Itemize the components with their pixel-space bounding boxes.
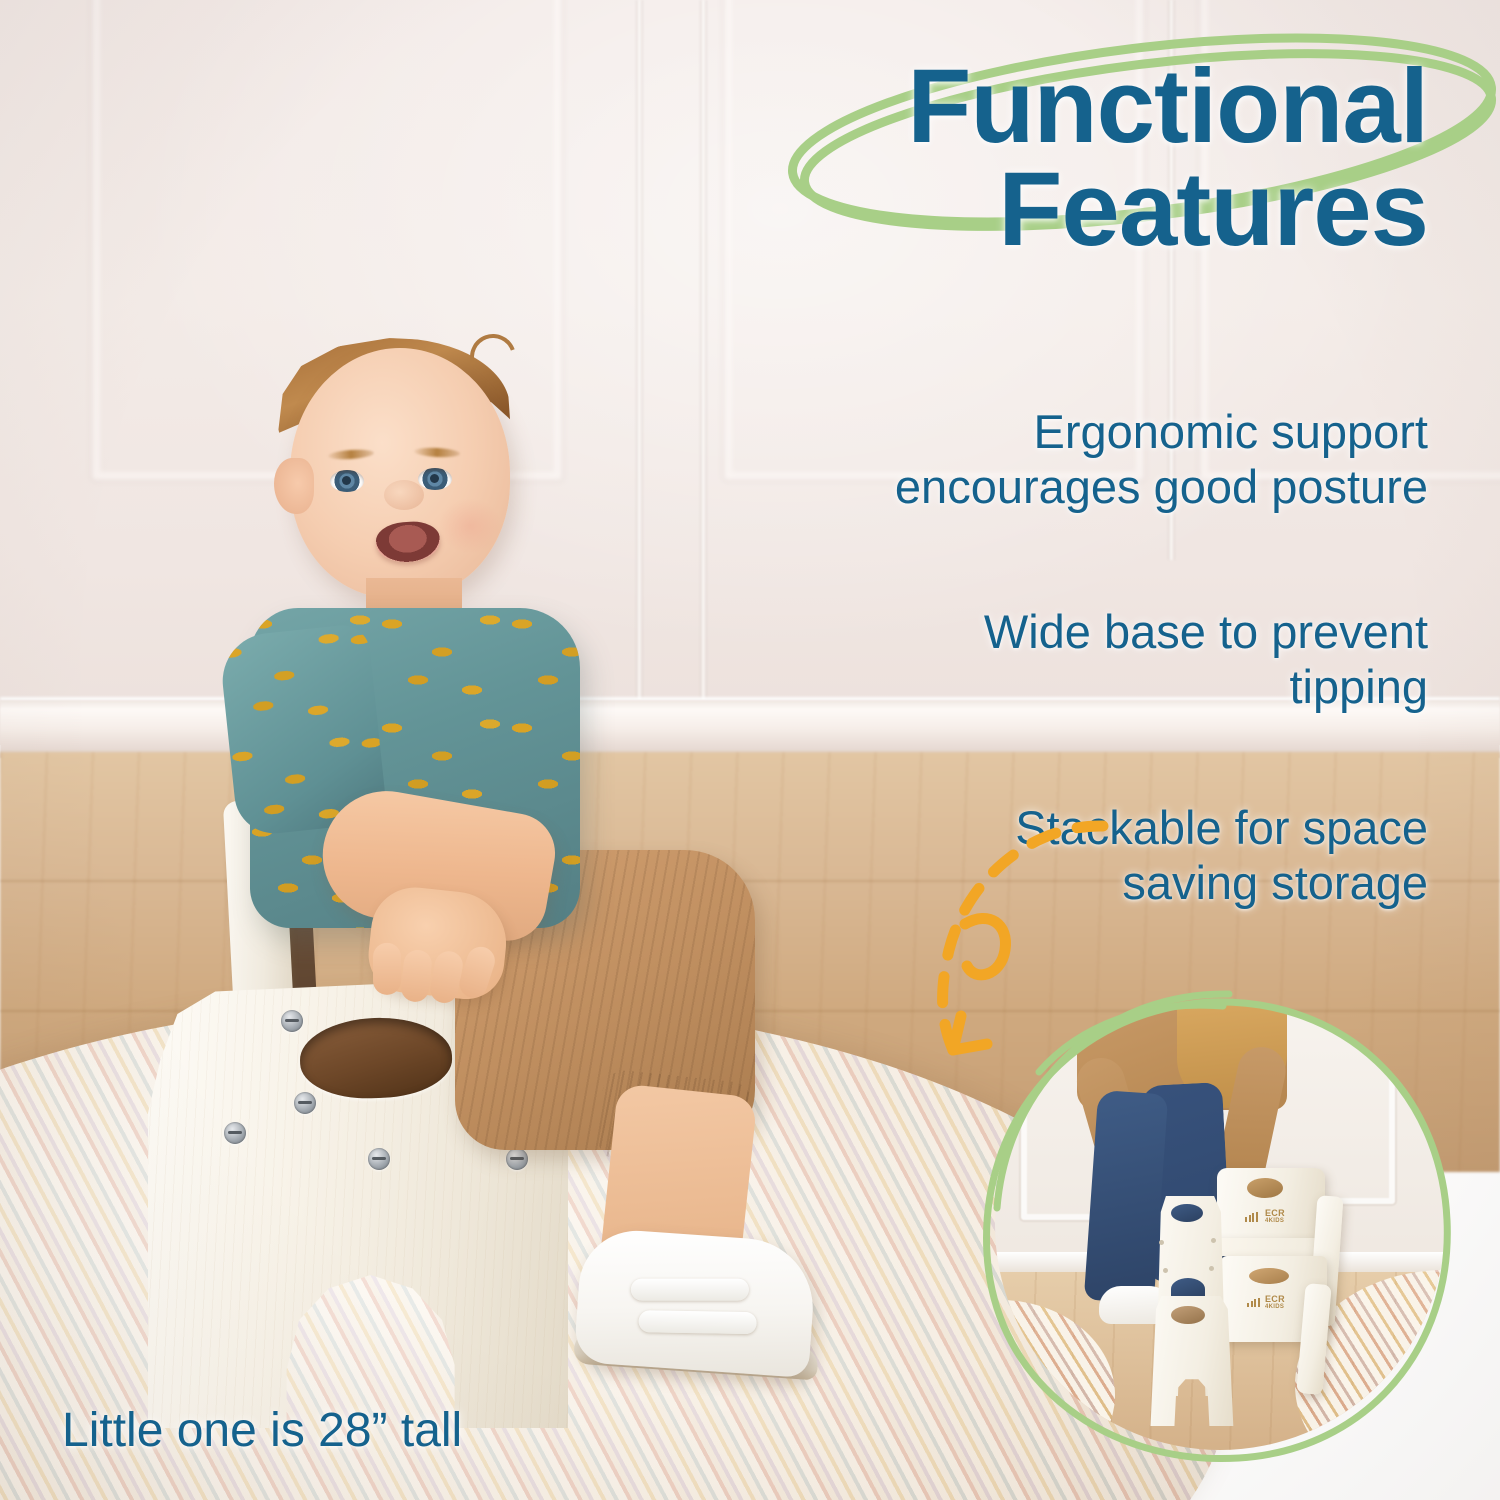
height-caption: Little one is 28” tall [62,1403,462,1458]
child-cheek [438,498,502,554]
child-ear [274,458,314,514]
ecr-logo-subtext: 4KIDS [1265,1218,1284,1224]
shoe-velcro-strap [638,1310,756,1334]
product-feature-image: Functional Features Ergonomic support en… [0,0,1500,1500]
child-shoe [574,1227,818,1378]
inset-stool-screw [1163,1268,1168,1273]
inset-stool-bottom-handle-cutout [1249,1268,1289,1284]
title-line-1: Functional [907,48,1428,165]
inset-stool-front-lower-cutout [1171,1306,1205,1324]
feature-text-ergonomic-support: Ergonomic support encourages good postur… [788,404,1428,515]
curved-dashed-arrow [905,800,1115,1090]
page-title: Functional Features [598,56,1428,262]
ecr-logo-text: ECR [1265,1208,1285,1218]
inset-stool-screw [1211,1238,1216,1243]
inset-stool-screw [1209,1266,1214,1271]
ecr-logo-bars [1247,1298,1260,1307]
ecr-logo-bars [1245,1212,1258,1222]
child-finger [373,943,401,995]
child-finger [400,949,433,1004]
inset-stool-screw [1159,1240,1164,1245]
title-line-2: Features [598,159,1428,262]
inset-stool-top-handle-cutout [1247,1178,1283,1198]
feature-text-wide-base: Wide base to prevent tipping [948,604,1428,715]
shoe-velcro-strap [631,1279,749,1301]
child-figure [170,330,730,1400]
child-nose [384,480,424,510]
child-eye [330,470,364,492]
ecr-logo-subtext: 4KIDS [1265,1304,1284,1310]
child-eye [418,468,452,490]
inset-stool-front-handle-cutout [1171,1204,1203,1222]
adult-jeans-left [1084,1090,1168,1304]
ecr-logo-text: ECR [1265,1294,1285,1304]
